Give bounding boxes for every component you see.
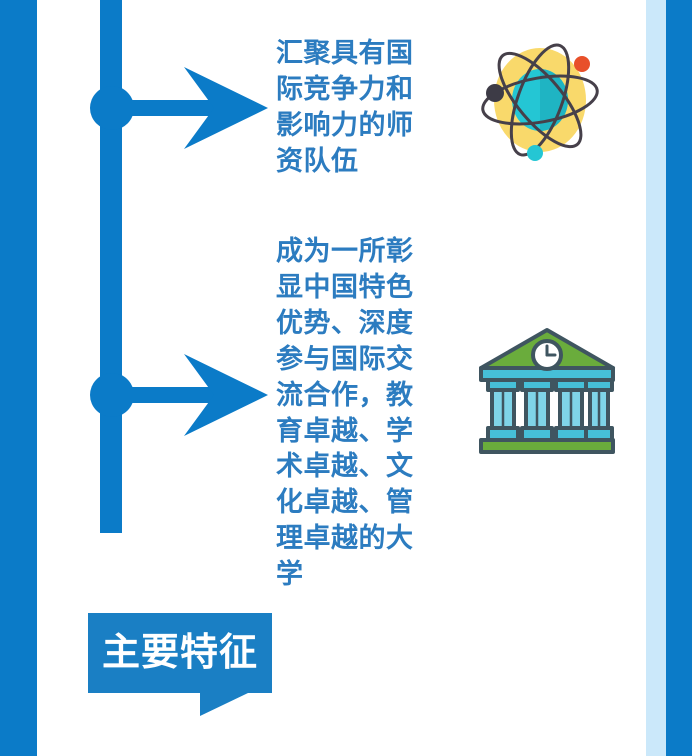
right-edge-light-bar	[646, 0, 666, 756]
timeline-arrow-row-1	[88, 64, 268, 152]
electron-red-icon	[574, 56, 590, 72]
right-edge-dark-bar	[666, 0, 692, 756]
electron-cyan-icon	[527, 145, 543, 161]
timeline-arrow-row-2	[88, 351, 268, 439]
arrow-right-icon	[122, 64, 268, 152]
arrow-right-icon	[122, 351, 268, 439]
atom-icon	[476, 34, 604, 170]
banner-label: 主要特征	[88, 613, 272, 693]
timeline-text-1: 汇聚具有国际竞争力和影响力的师资队伍	[276, 36, 428, 180]
banner-tail	[200, 693, 248, 716]
bank-building-icon	[476, 322, 618, 460]
infographic-page: 汇聚具有国际竞争力和影响力的师资队伍 成为一所彰显中国特色优	[0, 0, 692, 756]
main-features-banner[interactable]: 主要特征	[88, 613, 272, 693]
timeline-text-2: 成为一所彰显中国特色优势、深度参与国际交流合作，教育卓越、学术卓越、文化卓越、管…	[276, 234, 428, 593]
clock-icon	[533, 341, 561, 369]
electron-dark-icon	[486, 84, 504, 102]
left-edge-bar	[0, 0, 37, 756]
